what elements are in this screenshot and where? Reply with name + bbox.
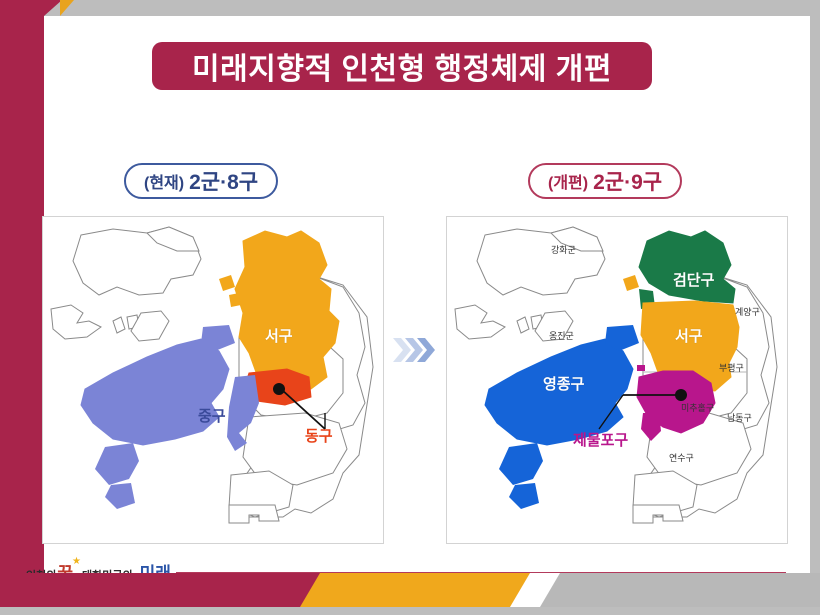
region-songdo-outline (633, 505, 683, 523)
current-structure-label: (현재) 2군·8구 (124, 163, 278, 199)
transition-arrow (392, 334, 438, 366)
map-label-ongjin-gun: 옹진군 (549, 329, 574, 342)
region-yeongjong-island-a (499, 443, 543, 485)
map-label-gyeyang-gu: 계양구 (735, 305, 760, 318)
triple-chevron-right-icon (392, 334, 438, 366)
region-yeongjong-island-b (509, 483, 539, 509)
map-panel-reorganized: 검단구 서구 영종구 제물포구 강화군 옹진군 계양구 부평구 미추홀구 남동구… (446, 216, 788, 544)
left-red-spine (0, 0, 44, 600)
map-label-yeongjong-gu: 영종구 (543, 373, 584, 394)
page-title: 미래지향적 인천형 행정체제 개편 (192, 44, 612, 88)
map-label-jemulpo-gu: 제물포구 (573, 429, 628, 450)
frame-right-border (810, 0, 820, 615)
region-songdo-outline (229, 505, 279, 523)
region-junggu-island-a (95, 443, 139, 485)
map-reorganized-svg (447, 217, 787, 543)
region-geomdan-gu (639, 231, 735, 303)
map-label-seogu-current: 서구 (265, 325, 293, 346)
map-label-junggu: 중구 (198, 405, 226, 426)
frame-top-border (0, 0, 820, 16)
map-label-bupyeong-gu: 부평구 (719, 361, 744, 374)
donggu-marker-dot (273, 383, 285, 395)
jemulpo-marker-dot (675, 389, 687, 401)
frame-bottom-border (0, 607, 820, 615)
gold-wedge-decoration (60, 0, 74, 16)
reorganized-structure-label: (개편) 2군·9구 (528, 163, 682, 199)
map-label-michuhol-gu: 미추홀구 (681, 401, 714, 414)
map-label-ganghwa-gun: 강화군 (551, 243, 576, 256)
region-ongjin-island-b (113, 317, 125, 333)
map-label-donggu: 동구 (305, 425, 333, 446)
map-panel-current: 서구 중구 동구 (42, 216, 384, 544)
map-label-seogu-reorganized: 서구 (675, 325, 703, 346)
bottom-bar-gold (300, 573, 530, 607)
map-current-svg (43, 217, 383, 543)
current-label-prefix: (현재) (144, 169, 184, 193)
region-ongjin-island-b (517, 317, 529, 333)
reorganized-label-value: 2군·9구 (593, 166, 662, 196)
region-junggu-yeongjong (81, 339, 229, 445)
bottom-bar-red (0, 573, 330, 607)
region-junggu-island-b (105, 483, 135, 509)
region-small-dot (637, 365, 645, 371)
star-icon: ★ (72, 556, 81, 567)
region-ongjin-island-a (51, 305, 101, 339)
reorganized-label-prefix: (개편) (548, 169, 588, 193)
title-banner: 미래지향적 인천형 행정체제 개편 (152, 42, 652, 90)
region-seogu-islet (219, 275, 235, 291)
region-seogu-islet2 (229, 293, 241, 307)
map-label-yeonsu-gu: 연수구 (669, 451, 694, 464)
current-label-value: 2군·8구 (189, 166, 258, 196)
region-ongjin-island-a (455, 305, 505, 339)
map-label-namdong-gu: 남동구 (727, 411, 752, 424)
region-seogu-islet (623, 275, 639, 291)
map-label-geomdan-gu: 검단구 (673, 269, 714, 290)
slide-root: 미래지향적 인천형 행정체제 개편 (현재) 2군·8구 (개편) 2군·9구 (0, 0, 820, 615)
